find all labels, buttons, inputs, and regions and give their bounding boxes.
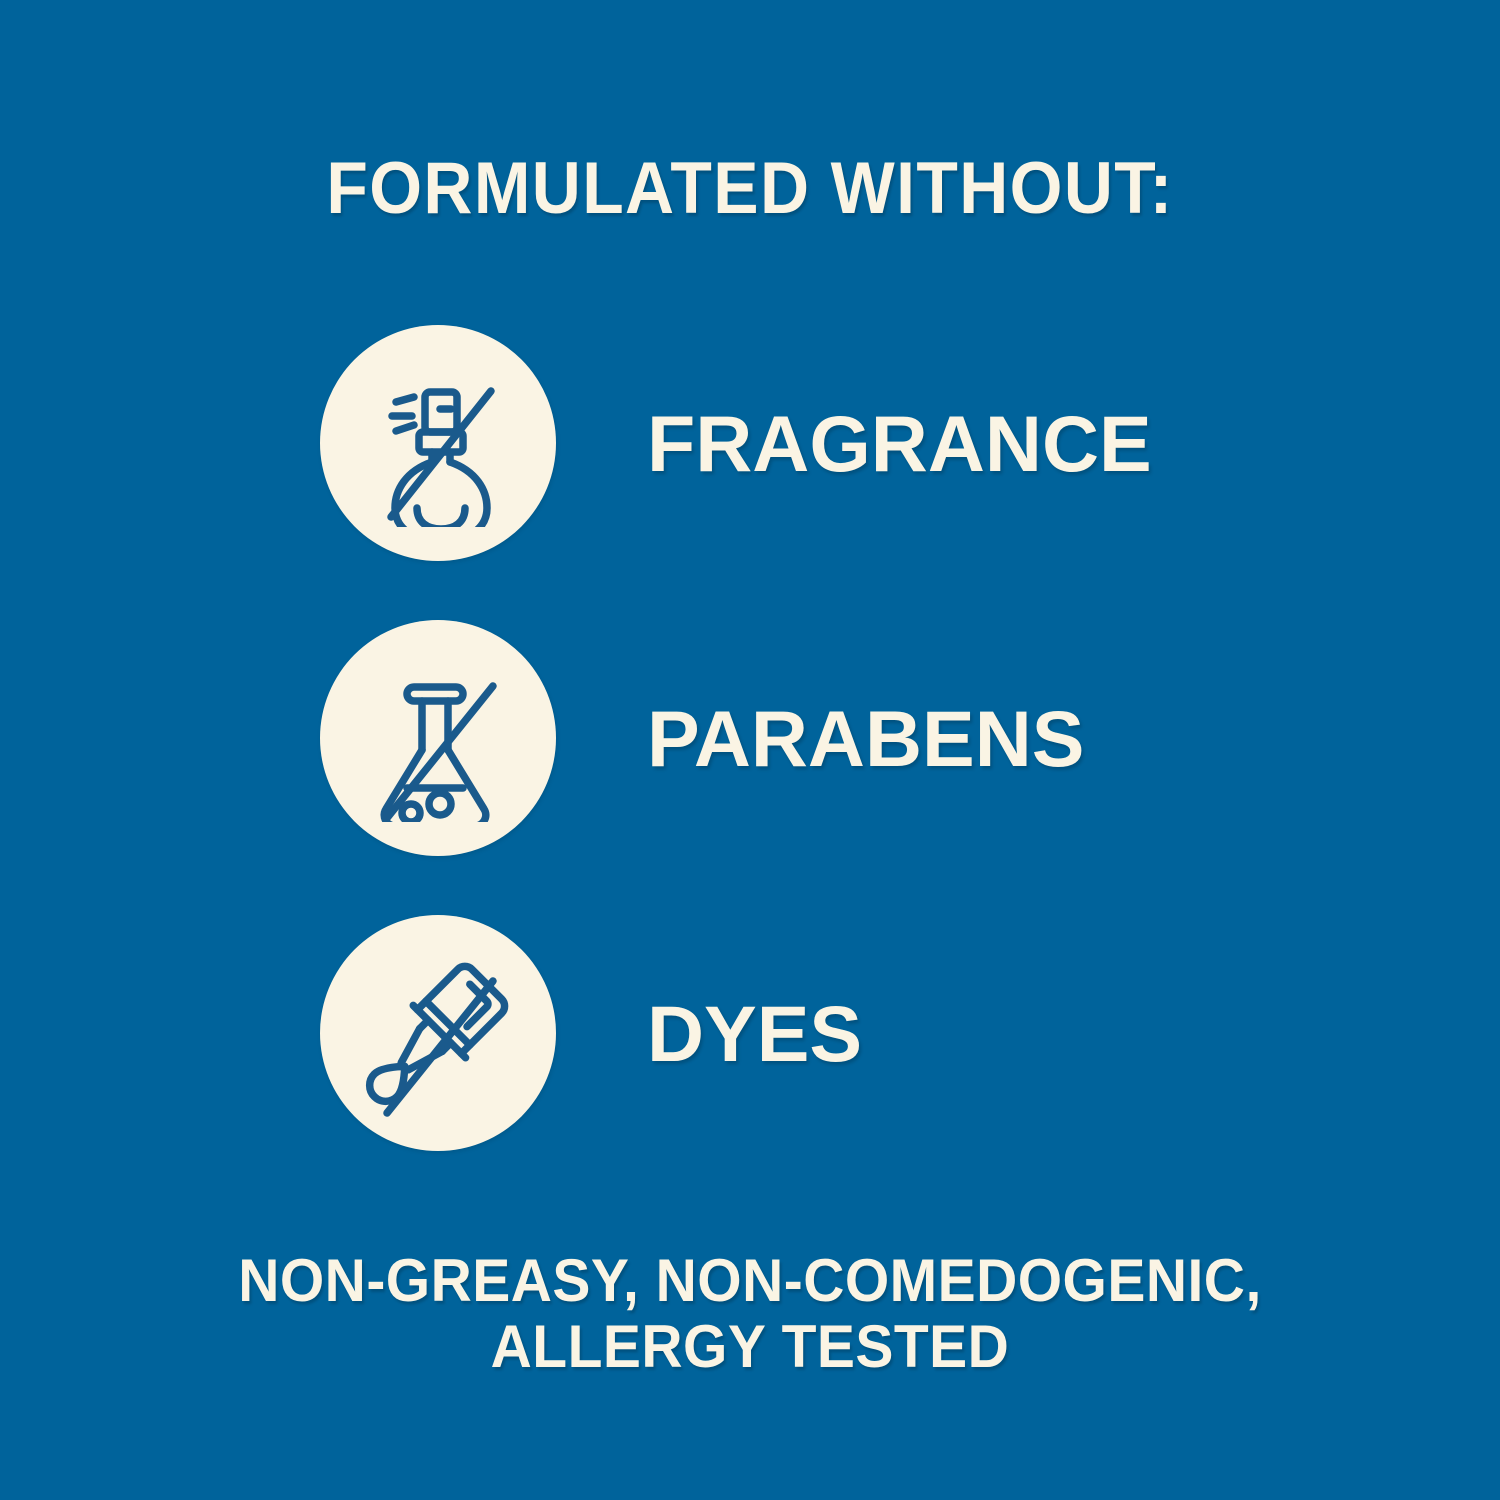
- benefit-label-parabens: PARABENS: [647, 699, 1084, 778]
- no-parabens-icon: [354, 654, 522, 822]
- no-fragrance-badge: [320, 325, 556, 561]
- footer-claims-line-1: NON-GREASY, NON-COMEDOGENIC,: [38, 1248, 1463, 1314]
- no-fragrance-icon: [354, 359, 522, 527]
- benefit-row-fragrance: FRAGRANCE: [320, 325, 1420, 561]
- no-dyes-icon: [354, 949, 522, 1117]
- footer-claims-line-2: ALLERGY TESTED: [38, 1314, 1463, 1380]
- benefit-row-parabens: PARABENS: [320, 620, 1420, 856]
- page-title: FORMULATED WITHOUT:: [53, 152, 1448, 225]
- no-parabens-badge: [320, 620, 556, 856]
- no-dyes-badge: [320, 915, 556, 1151]
- formulated-without-poster: FORMULATED WITHOUT:: [0, 0, 1500, 1500]
- footer-claims: NON-GREASY, NON-COMEDOGENIC, ALLERGY TES…: [38, 1248, 1463, 1380]
- benefit-label-dyes: DYES: [647, 994, 862, 1073]
- benefit-row-dyes: DYES: [320, 915, 1420, 1151]
- benefit-label-fragrance: FRAGRANCE: [647, 404, 1152, 483]
